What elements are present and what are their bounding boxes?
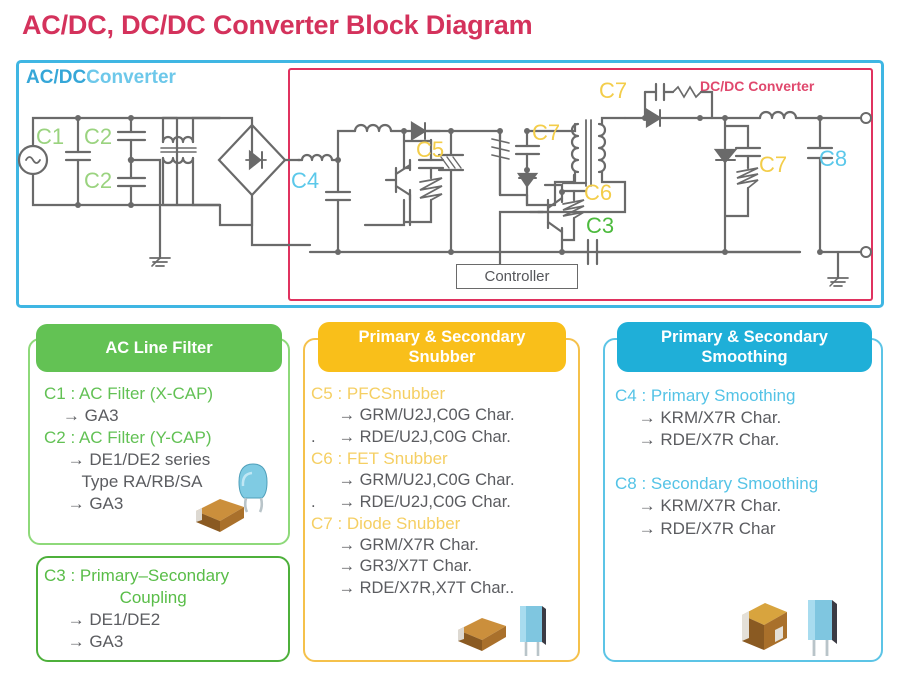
- list-item: → GRM/X7R Char.: [311, 535, 583, 556]
- list-item: C8 : Secondary Smoothing: [615, 473, 887, 495]
- list-item: → GA3: [44, 631, 289, 653]
- list-item: → DE1/DE2: [44, 609, 289, 631]
- list-item: . → RDE/U2J,C0G Char.: [311, 427, 583, 448]
- output-terminal-positive: [861, 113, 871, 123]
- snubber-header: Primary & Secondary Snubber: [318, 322, 566, 372]
- ac-line-filter-header: AC Line Filter: [36, 324, 282, 372]
- list-item: Coupling: [44, 587, 289, 609]
- diagram-page: AC/DC, DC/DC Converter Block Diagram AC/…: [0, 0, 900, 680]
- list-item: C6 : FET Snubber: [311, 448, 583, 470]
- list-item: C4 : Primary Smoothing: [615, 385, 887, 407]
- list-item: C5 : PFCSnubber: [311, 383, 583, 405]
- circuit-label-c8: C8: [819, 146, 847, 172]
- list-item: → GR3/X7T Char.: [311, 556, 583, 577]
- output-terminal-negative: [861, 247, 871, 257]
- list-item: C2 : AC Filter (Y-CAP): [44, 427, 289, 449]
- list-item: C3 : Primary–Secondary: [44, 565, 289, 587]
- list-item: C1 : AC Filter (X-CAP): [44, 383, 289, 405]
- list-item: [615, 451, 887, 473]
- input-inductor-icon: [298, 155, 338, 160]
- list-item: → RDE/X7R,X7T Char..: [311, 578, 583, 599]
- chip-capacitor-icon: [190, 495, 248, 537]
- list-item: → RDE/X7R Char.: [615, 429, 887, 451]
- smoothing-header: Primary & Secondary Smoothing: [617, 322, 872, 372]
- list-item: → GRM/U2J,C0G Char.: [311, 470, 583, 491]
- list-item: → GRM/U2J,C0G Char.: [311, 405, 583, 426]
- list-item: → RDE/X7R Char: [615, 518, 887, 540]
- pfc-transistor-icon: [365, 131, 410, 225]
- smoothing-text: C4 : Primary Smoothing → KRM/X7R Char. →…: [615, 385, 887, 540]
- circuit-label-c7-diode: C7: [599, 78, 627, 104]
- snubber-text: C5 : PFCSnubber → GRM/U2J,C0G Char. . → …: [311, 383, 583, 599]
- list-item: → GA3: [44, 405, 289, 427]
- film-capacitor-icon: [800, 596, 846, 658]
- output-inductor-icon: [760, 112, 820, 118]
- circuit-label-c7-primary: C7: [532, 120, 560, 146]
- circuit-label-c2-top: C2: [84, 124, 112, 150]
- film-capacitor-icon: [512, 602, 554, 658]
- secondary-transistor-icon: [500, 185, 562, 268]
- list-item: → KRM/X7R Char.: [615, 407, 887, 429]
- primary-secondary-coupling-text: C3 : Primary–Secondary Coupling → DE1/DE…: [44, 565, 289, 653]
- common-mode-choke-icon: [161, 118, 220, 205]
- circuit-label-c3: C3: [586, 213, 614, 239]
- circuit-label-c5: C5: [416, 137, 444, 163]
- circuit-label-c2-bottom: C2: [84, 168, 112, 194]
- circuit-label-c4: C4: [291, 168, 319, 194]
- list-item: → KRM/X7R Char.: [615, 495, 887, 517]
- chip-capacitor-icon: [452, 614, 510, 656]
- circuit-label-c6: C6: [584, 180, 612, 206]
- circuit-label-c1: C1: [36, 124, 64, 150]
- chip-capacitor-icon: [735, 600, 793, 658]
- controller-block: Controller: [456, 264, 578, 289]
- circuit-label-c7-output: C7: [759, 152, 787, 178]
- list-item: C7 : Diode Snubber: [311, 513, 583, 535]
- list-item: . → RDE/U2J,C0G Char.: [311, 492, 583, 513]
